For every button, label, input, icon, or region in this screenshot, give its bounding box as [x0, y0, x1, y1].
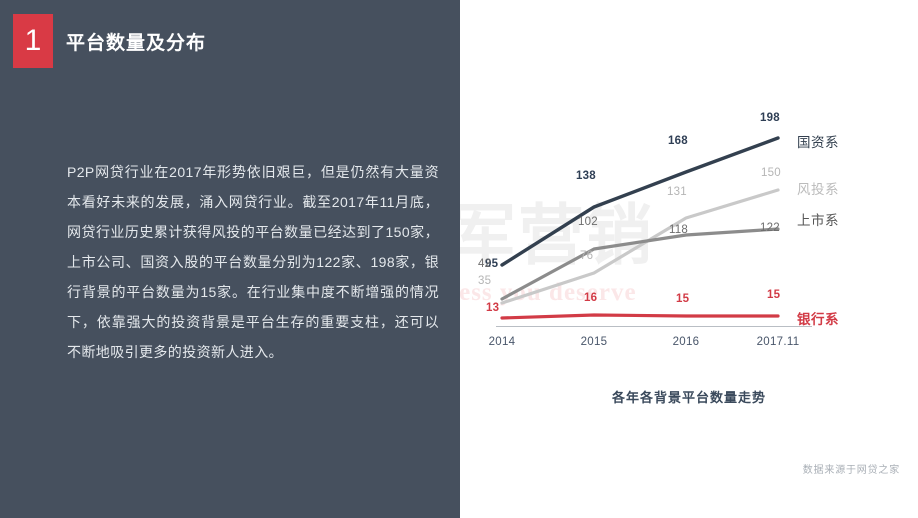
data-label-shangshi-2016: 118 — [669, 224, 688, 236]
data-label-shangshi-2017: 122 — [760, 222, 780, 234]
data-label-fengtou-2017: 150 — [761, 167, 781, 179]
left-content-panel: 1 平台数量及分布 P2P网贷行业在2017年形势依旧艰巨，但是仍然有大量资本看… — [0, 0, 460, 518]
body-paragraph: P2P网贷行业在2017年形势依旧艰巨，但是仍然有大量资本看好未来的发展，涌入网… — [67, 157, 439, 367]
data-label-yinhang-2016: 15 — [676, 293, 689, 305]
x-axis-tick-2015: 2015 — [559, 336, 629, 348]
legend-label-fengtou: 风投系 — [797, 178, 839, 198]
data-label-guozi-2015: 138 — [576, 170, 596, 182]
data-label-guozi-2017: 198 — [760, 112, 780, 124]
x-axis-tick-2016: 2016 — [651, 336, 721, 348]
chart-title: 各年各背景平台数量走势 — [460, 387, 918, 406]
x-axis-line — [496, 326, 812, 327]
line-chart-plot: 95 138 168 198 35 76 131 150 42 102 118 … — [460, 0, 918, 400]
data-label-fengtou-2014: 35 — [478, 275, 491, 287]
section-number-badge: 1 — [13, 14, 53, 68]
data-label-fengtou-2016: 131 — [667, 186, 687, 198]
slide-root: 1 平台数量及分布 P2P网贷行业在2017年形势依旧艰巨，但是仍然有大量资本看… — [0, 0, 918, 518]
data-label-fengtou-2015: 76 — [580, 250, 593, 262]
page-title: 平台数量及分布 — [66, 28, 206, 55]
legend-label-yinhang: 银行系 — [797, 308, 839, 328]
series-line-fengtou — [502, 190, 778, 303]
x-axis-tick-2017: 2017.11 — [743, 336, 813, 348]
data-label-yinhang-2017: 15 — [767, 289, 780, 301]
data-label-yinhang-2014: 13 — [486, 302, 499, 314]
data-label-shangshi-2015: 102 — [578, 216, 598, 228]
data-label-yinhang-2015: 16 — [584, 292, 597, 304]
x-axis-tick-2014: 2014 — [467, 336, 537, 348]
legend-label-guozi: 国资系 — [797, 131, 839, 151]
data-source-note: 数据来源于网贷之家 — [803, 461, 900, 476]
chart-panel: 军营销 uccess you deserve 95 138 168 198 — [460, 0, 918, 518]
legend-label-shangshi: 上市系 — [797, 209, 839, 229]
data-label-shangshi-2014: 42 — [478, 258, 491, 270]
series-line-yinhang — [502, 315, 778, 318]
data-label-guozi-2016: 168 — [668, 135, 688, 147]
